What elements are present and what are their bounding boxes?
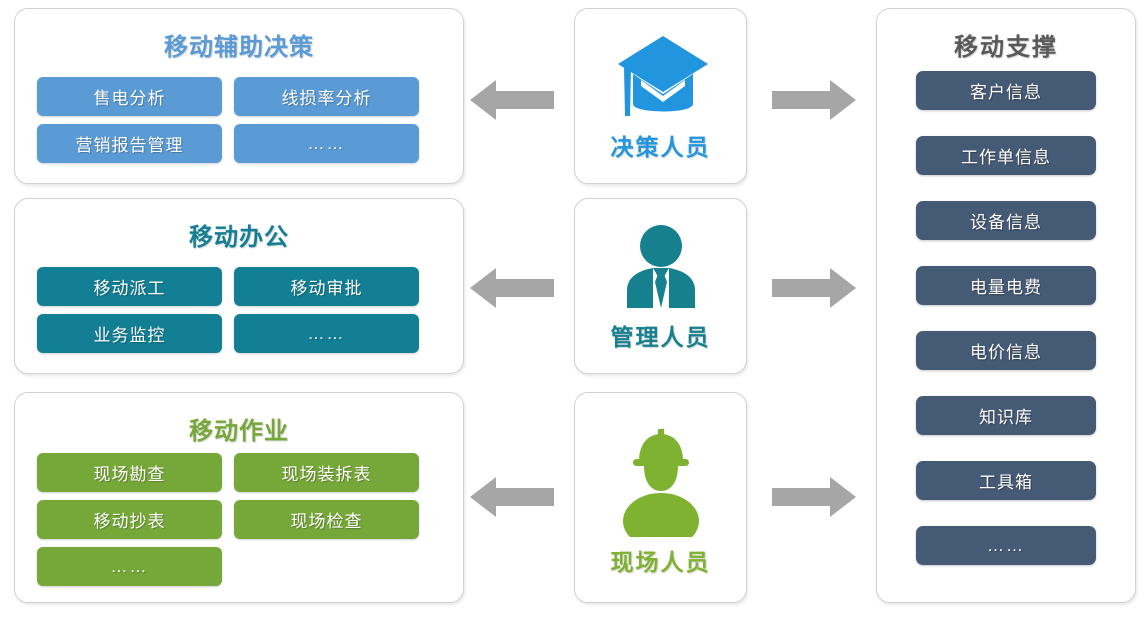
support-item-work-order-info[interactable]: 工作单信息 [916,136,1096,175]
tile-site-inspection[interactable]: 现场检查 [234,500,419,539]
support-panel: 移动支撑 客户信息 工作单信息 设备信息 电量电费 电价信息 知识库 工具箱 …… [876,8,1136,603]
business-person-icon [611,220,711,312]
support-item-equipment-info[interactable]: 设备信息 [916,201,1096,240]
tile-grid-decision-support: 售电分析 线损率分析 营销报告管理 …… [37,77,441,163]
support-item-customer-info[interactable]: 客户信息 [916,71,1096,110]
actor-label-decision-maker: 决策人员 [611,128,711,162]
group-panel-mobile-office: 移动办公 移动派工 移动审批 业务监控 …… [14,198,464,374]
field-worker-icon [611,425,711,537]
arrow-left-icon [470,475,554,519]
tile-business-monitoring[interactable]: 业务监控 [37,314,222,353]
group-title-decision-support: 移动辅助决策 [15,27,463,62]
graduation-cap-icon [611,30,711,122]
tile-site-survey[interactable]: 现场勘查 [37,453,222,492]
tile-more-operations[interactable]: …… [37,547,222,586]
support-item-toolbox[interactable]: 工具箱 [916,461,1096,500]
tile-line-loss-analysis[interactable]: 线损率分析 [234,77,419,116]
tile-grid-mobile-operations: 现场勘查 现场装拆表 移动抄表 现场检查 …… [37,453,441,586]
tile-more-office[interactable]: …… [234,314,419,353]
tile-sales-analysis[interactable]: 售电分析 [37,77,222,116]
arrow-left-operations [470,475,554,519]
support-item-list: 客户信息 工作单信息 设备信息 电量电费 电价信息 知识库 工具箱 …… [916,71,1096,565]
support-item-more[interactable]: …… [916,526,1096,565]
arrow-right-operations [772,475,856,519]
actor-label-field-worker: 现场人员 [611,543,711,577]
tile-mobile-approval[interactable]: 移动审批 [234,267,419,306]
arrow-right-office [772,266,856,310]
arrow-left-decision [470,78,554,122]
arrow-left-office [470,266,554,310]
arrow-right-icon [772,266,856,310]
support-panel-title: 移动支撑 [877,27,1135,62]
arrow-right-decision [772,78,856,122]
tile-marketing-report-mgmt[interactable]: 营销报告管理 [37,124,222,163]
tile-mobile-dispatch[interactable]: 移动派工 [37,267,222,306]
tile-more-decision[interactable]: …… [234,124,419,163]
tile-mobile-meter-reading[interactable]: 移动抄表 [37,500,222,539]
tile-grid-mobile-office: 移动派工 移动审批 业务监控 …… [37,267,441,353]
actor-label-manager: 管理人员 [611,318,711,352]
arrow-right-icon [772,78,856,122]
group-panel-mobile-operations: 移动作业 现场勘查 现场装拆表 移动抄表 现场检查 …… [14,392,464,603]
group-title-mobile-office: 移动办公 [15,217,463,252]
arrow-left-icon [470,266,554,310]
group-title-mobile-operations: 移动作业 [15,411,463,446]
arrow-left-icon [470,78,554,122]
support-item-price-info[interactable]: 电价信息 [916,331,1096,370]
group-panel-decision-support: 移动辅助决策 售电分析 线损率分析 营销报告管理 …… [14,8,464,184]
support-item-knowledge-base[interactable]: 知识库 [916,396,1096,435]
actor-card-manager[interactable]: 管理人员 [574,198,747,374]
actor-card-field-worker[interactable]: 现场人员 [574,392,747,603]
arrow-right-icon [772,475,856,519]
actor-card-decision-maker[interactable]: 决策人员 [574,8,747,184]
support-item-electricity-usage-fee[interactable]: 电量电费 [916,266,1096,305]
tile-site-meter-install-removal[interactable]: 现场装拆表 [234,453,419,492]
diagram-canvas: 移动辅助决策 售电分析 线损率分析 营销报告管理 …… 移动办公 移动派工 移动… [0,0,1145,617]
